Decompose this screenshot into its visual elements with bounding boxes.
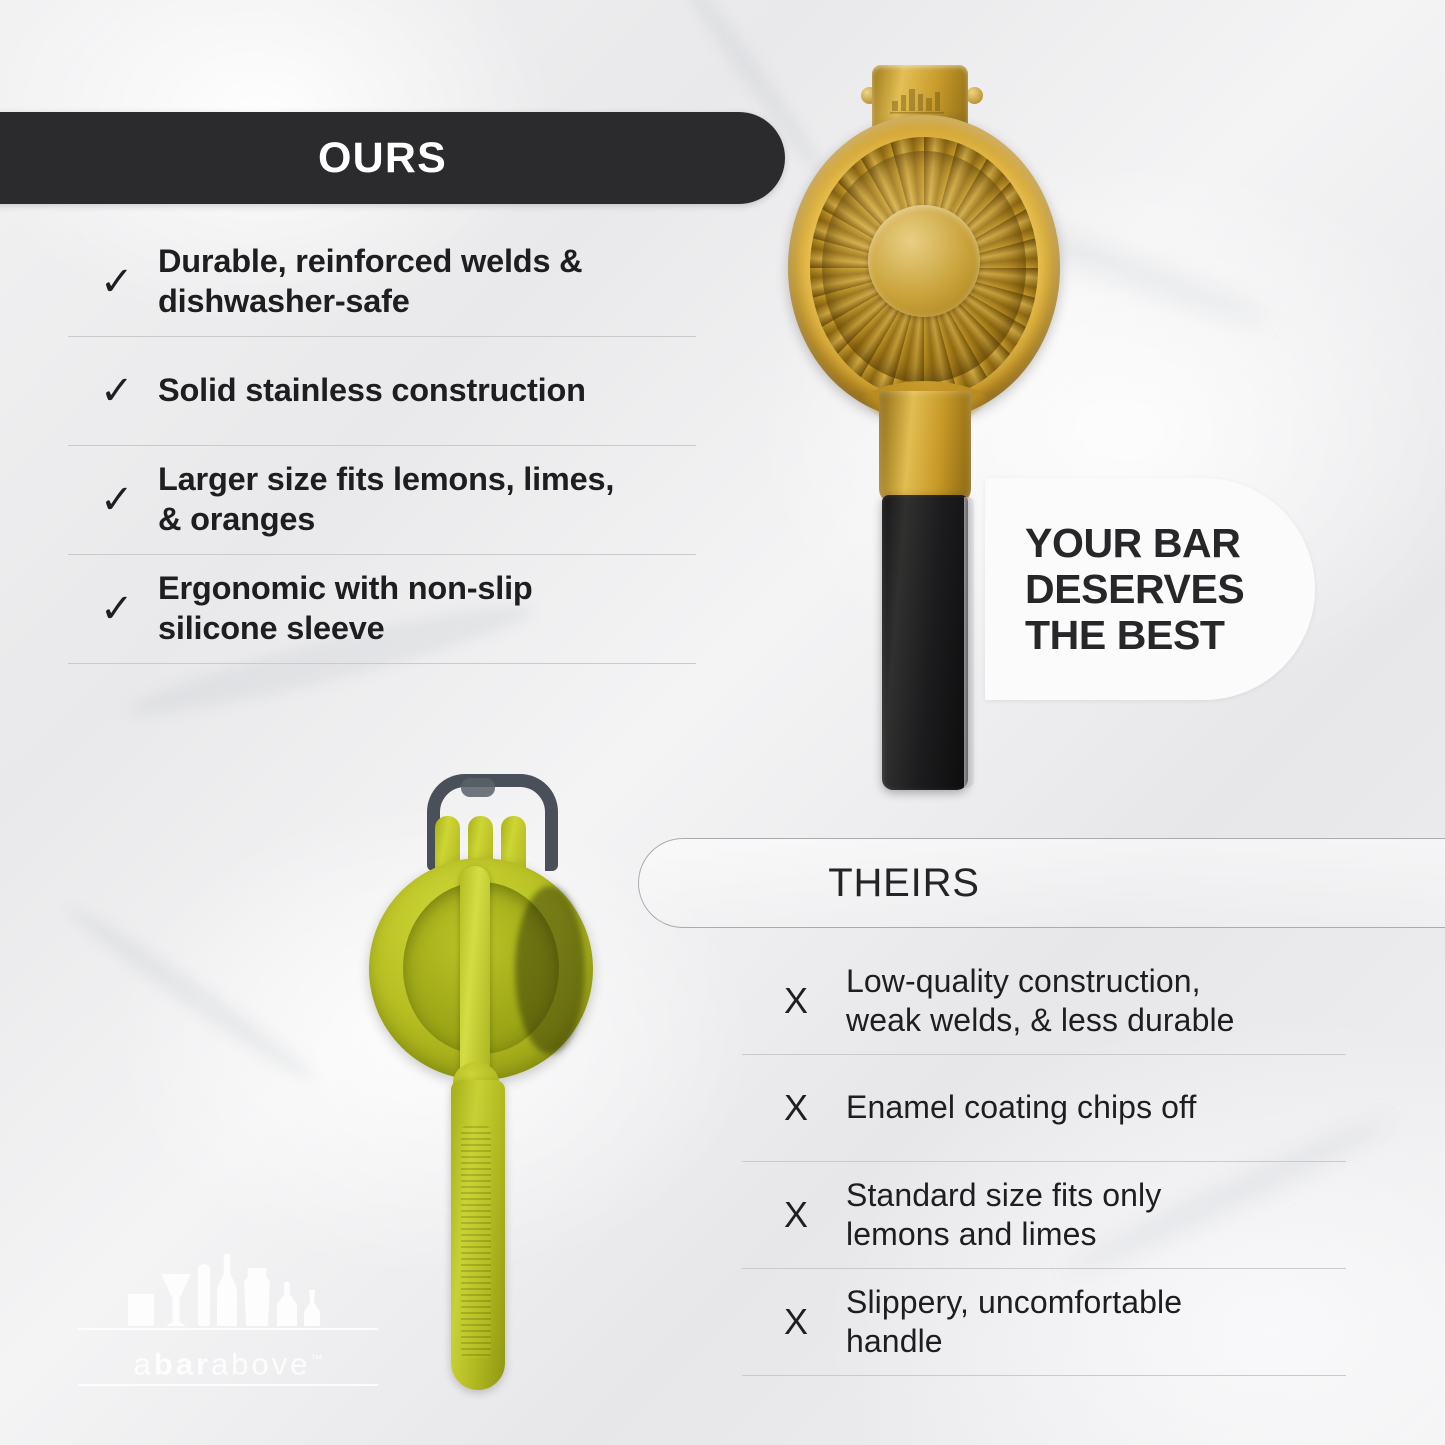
theirs-item-label: Slippery, uncomfortable handle <box>846 1283 1182 1361</box>
ours-list-item: ✓ Larger size fits lemons, limes, & oran… <box>68 446 696 555</box>
coupe-glass-icon <box>161 1274 191 1326</box>
check-icon: ✓ <box>68 589 158 629</box>
ours-list-item: ✓ Ergonomic with non-slip silicone sleev… <box>68 555 696 664</box>
theirs-item-label: Enamel coating chips off <box>846 1088 1196 1127</box>
check-icon: ✓ <box>68 371 158 411</box>
barware-silhouettes-icon <box>128 1252 320 1326</box>
hinge-pin <box>966 87 983 104</box>
shaker-icon <box>244 1268 270 1326</box>
squeezer-center-disc <box>868 205 980 317</box>
infographic-canvas: OURS ✓ Durable, reinforced welds & dishw… <box>0 0 1445 1445</box>
callout-text: YOUR BAR DESERVES THE BEST <box>985 520 1244 659</box>
cross-icon: X <box>742 1304 846 1340</box>
hinge-brand-badge-icon <box>461 778 495 797</box>
theirs-item-label: Standard size fits only lemons and limes <box>846 1176 1161 1254</box>
logo-wordmark: abarabove™ <box>78 1336 378 1387</box>
black-silicone-handle <box>882 495 968 790</box>
squeezer-inner-shadow <box>515 886 585 1054</box>
ours-header-label: OURS <box>298 134 447 183</box>
logo-word-a: a <box>134 1346 154 1381</box>
cross-icon: X <box>742 1090 846 1126</box>
theirs-header-label: THEIRS <box>828 861 979 906</box>
logo-rule-top <box>78 1328 378 1330</box>
rocks-glass-icon <box>128 1294 154 1326</box>
brand-logo: abarabove™ <box>78 1250 390 1400</box>
handle-metal-edge <box>964 497 974 788</box>
theirs-drawback-list: X Low-quality construction, weak welds, … <box>742 948 1346 1376</box>
squeezer-neck <box>879 391 971 503</box>
handle-ribbed-texture <box>461 1126 491 1358</box>
engraved-brand-logo-icon <box>886 85 956 119</box>
bitters-bottle-icon <box>277 1282 297 1326</box>
ours-item-label: Solid stainless construction <box>158 371 586 411</box>
callout-badge: YOUR BAR DESERVES THE BEST <box>985 478 1315 700</box>
bar-spoon-icon <box>198 1264 210 1326</box>
logo-word-bar: bar <box>154 1346 211 1381</box>
ours-list-item: ✓ Solid stainless construction <box>68 337 696 446</box>
check-icon: ✓ <box>68 262 158 302</box>
ours-feature-list: ✓ Durable, reinforced welds & dishwasher… <box>68 228 696 664</box>
bottle-icon <box>217 1254 237 1326</box>
theirs-list-item: X Enamel coating chips off <box>742 1055 1346 1162</box>
small-bottle-icon <box>304 1290 320 1326</box>
logo-word-above: above <box>211 1346 310 1381</box>
ours-list-item: ✓ Durable, reinforced welds & dishwasher… <box>68 228 696 337</box>
ours-item-label: Durable, reinforced welds & dishwasher-s… <box>158 242 582 322</box>
theirs-header-pill: THEIRS <box>638 838 1445 928</box>
logo-rule-bottom <box>78 1384 378 1386</box>
green-competitor-squeezer-image <box>365 770 655 1410</box>
ours-item-label: Ergonomic with non-slip silicone sleeve <box>158 569 533 649</box>
cross-icon: X <box>742 983 846 1019</box>
theirs-list-item: X Low-quality construction, weak welds, … <box>742 948 1346 1055</box>
ours-item-label: Larger size fits lemons, limes, & orange… <box>158 460 614 540</box>
theirs-list-item: X Standard size fits only lemons and lim… <box>742 1162 1346 1269</box>
trademark-symbol: ™ <box>310 1352 322 1366</box>
check-icon: ✓ <box>68 480 158 520</box>
cross-icon: X <box>742 1197 846 1233</box>
marble-vein <box>60 896 321 1089</box>
ours-header-banner: OURS <box>0 112 785 204</box>
theirs-list-item: X Slippery, uncomfortable handle <box>742 1269 1346 1376</box>
theirs-item-label: Low-quality construction, weak welds, & … <box>846 962 1235 1040</box>
